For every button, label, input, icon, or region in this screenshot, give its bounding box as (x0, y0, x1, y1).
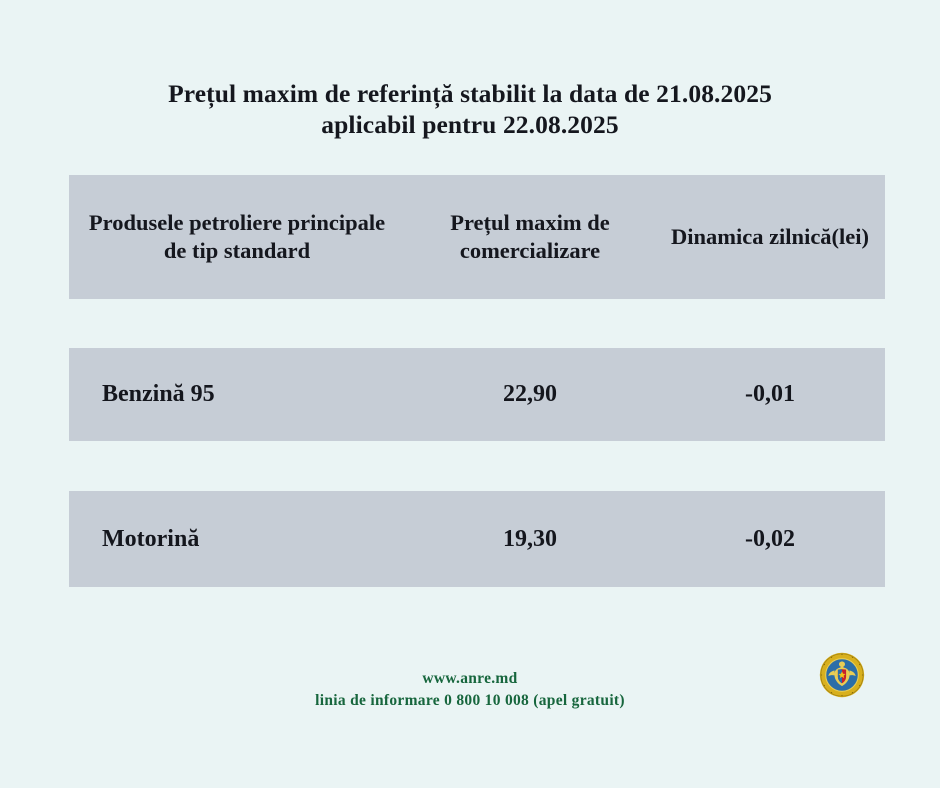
cell-product-name: Motorină (69, 526, 405, 553)
cell-daily-change: -0,02 (655, 526, 885, 553)
footer-hotline: linia de informare 0 800 10 008 (apel gr… (0, 690, 940, 712)
price-announcement-page: Prețul maxim de referință stabilit la da… (0, 0, 940, 788)
footer-website[interactable]: www.anre.md (0, 668, 940, 690)
title-line-2: aplicabil pentru 22.08.2025 (0, 109, 940, 140)
column-header-product: Produsele petroliere principale de tip s… (69, 209, 405, 265)
title-line-1: Prețul maxim de referință stabilit la da… (0, 78, 940, 109)
cell-product-name: Benzină 95 (69, 381, 405, 408)
page-title: Prețul maxim de referință stabilit la da… (0, 78, 940, 140)
anre-emblem-icon (819, 652, 865, 698)
cell-max-price: 22,90 (405, 381, 655, 408)
fuel-price-table: Produsele petroliere principale de tip s… (69, 175, 885, 587)
column-header-price: Prețul maxim de comercializare (405, 209, 655, 265)
cell-max-price: 19,30 (405, 526, 655, 553)
column-header-daily-change: Dinamica zilnică(lei) (655, 223, 885, 251)
table-header-row: Produsele petroliere principale de tip s… (69, 175, 885, 299)
table-row: Motorină 19,30 -0,02 (69, 491, 885, 587)
footer: www.anre.md linia de informare 0 800 10 … (0, 668, 940, 712)
cell-daily-change: -0,01 (655, 381, 885, 408)
table-row: Benzină 95 22,90 -0,01 (69, 348, 885, 441)
